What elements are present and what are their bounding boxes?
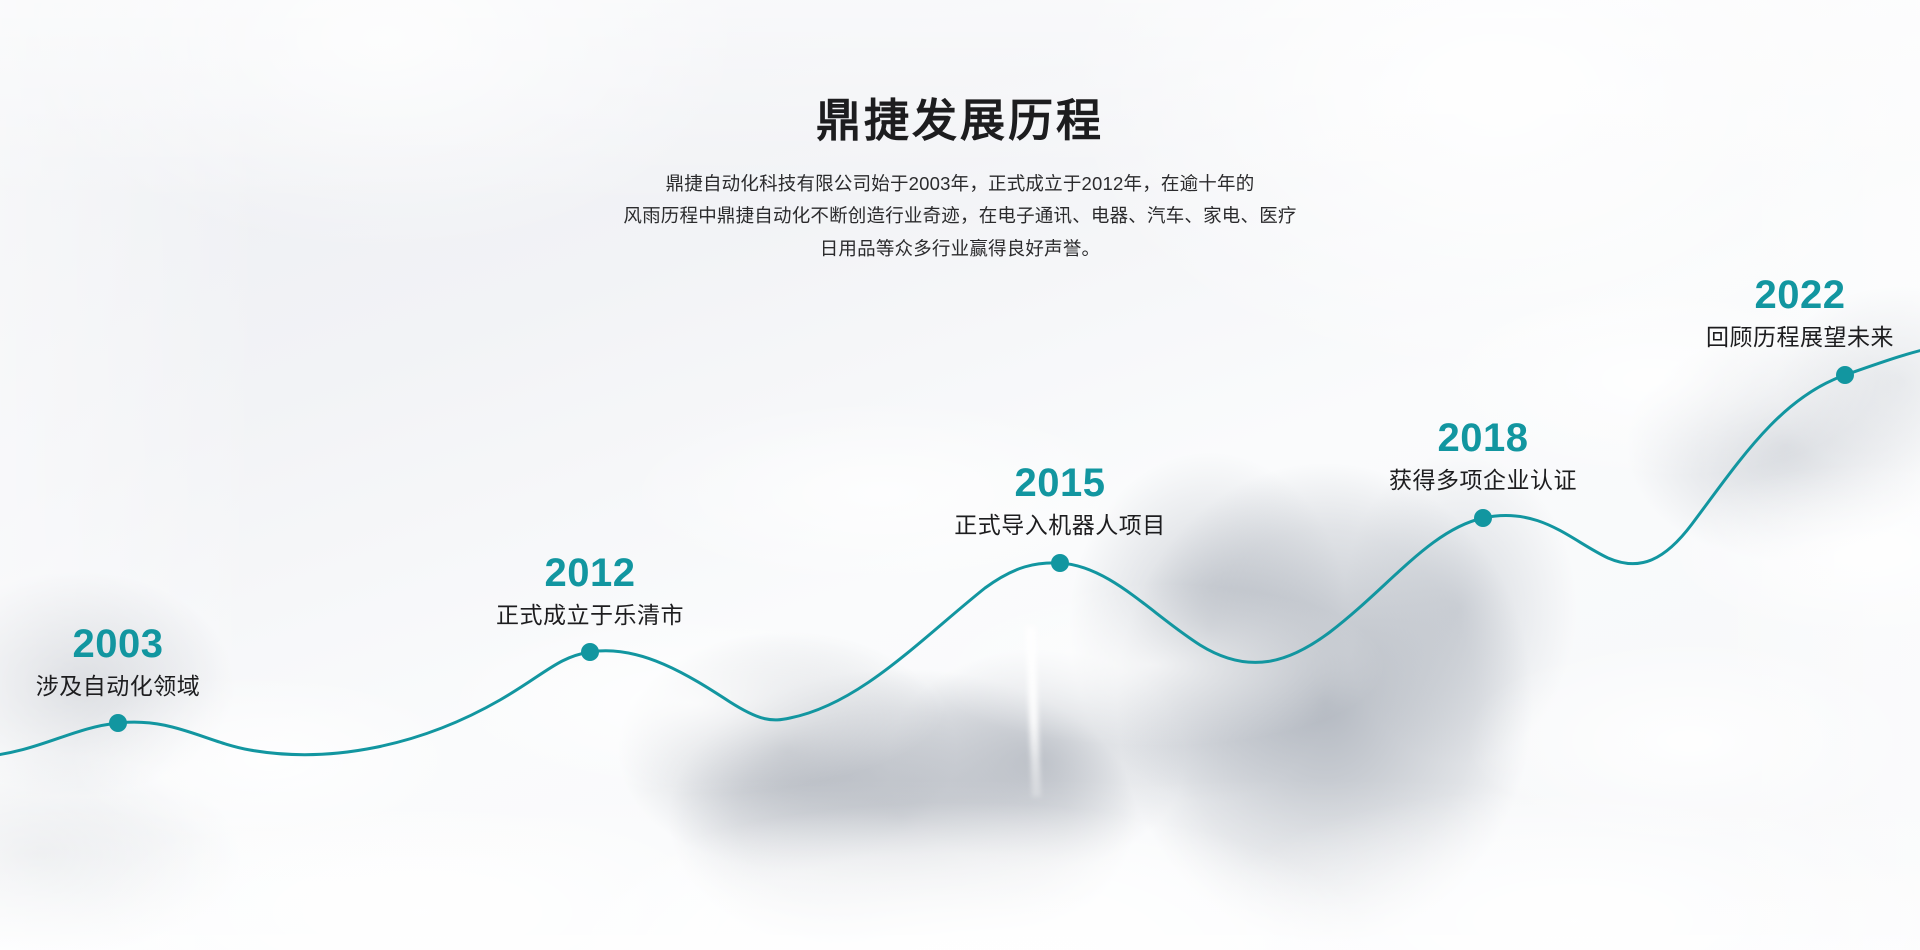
milestone-2012-year: 2012 bbox=[496, 553, 684, 593]
milestone-2012-label: 正式成立于乐清市 bbox=[496, 602, 684, 630]
header: 鼎捷发展历程 鼎捷自动化科技有限公司始于2003年，正式成立于2012年，在逾十… bbox=[0, 96, 1920, 266]
milestone-2018-dot[interactable] bbox=[1474, 509, 1492, 527]
milestone-2003-label: 涉及自动化领域 bbox=[36, 673, 201, 701]
milestone-2018[interactable]: 2018 获得多项企业认证 bbox=[1389, 418, 1577, 495]
milestone-2012-dot[interactable] bbox=[581, 643, 599, 661]
milestone-2003-dot[interactable] bbox=[109, 714, 127, 732]
milestone-2015[interactable]: 2015 正式导入机器人项目 bbox=[954, 463, 1166, 540]
milestone-2003[interactable]: 2003 涉及自动化领域 bbox=[36, 624, 201, 701]
subtitle-line-2: 风雨历程中鼎捷自动化不断创造行业奇迹，在电子通讯、电器、汽车、家电、医疗 bbox=[0, 200, 1920, 233]
milestone-2022-dot[interactable] bbox=[1836, 366, 1854, 384]
milestone-2018-year: 2018 bbox=[1389, 418, 1577, 458]
subtitle-line-1: 鼎捷自动化科技有限公司始于2003年，正式成立于2012年，在逾十年的 bbox=[0, 168, 1920, 201]
timeline-curve-path bbox=[0, 346, 1920, 757]
subtitle-line-3: 日用品等众多行业赢得良好声誉。 bbox=[0, 233, 1920, 266]
milestone-2015-year: 2015 bbox=[954, 463, 1166, 503]
subtitle: 鼎捷自动化科技有限公司始于2003年，正式成立于2012年，在逾十年的 风雨历程… bbox=[0, 168, 1920, 267]
milestone-2022[interactable]: 2022 回顾历程展望未来 bbox=[1706, 275, 1894, 352]
milestone-2015-dot[interactable] bbox=[1051, 554, 1069, 572]
milestone-2018-label: 获得多项企业认证 bbox=[1389, 467, 1577, 495]
milestone-2012[interactable]: 2012 正式成立于乐清市 bbox=[496, 553, 684, 630]
page-title: 鼎捷发展历程 bbox=[0, 96, 1920, 146]
timeline-infographic: 鼎捷发展历程 鼎捷自动化科技有限公司始于2003年，正式成立于2012年，在逾十… bbox=[0, 0, 1920, 950]
milestone-2003-year: 2003 bbox=[36, 624, 201, 664]
milestone-2022-label: 回顾历程展望未来 bbox=[1706, 324, 1894, 352]
milestone-2022-year: 2022 bbox=[1706, 275, 1894, 315]
milestone-2015-label: 正式导入机器人项目 bbox=[954, 512, 1166, 540]
